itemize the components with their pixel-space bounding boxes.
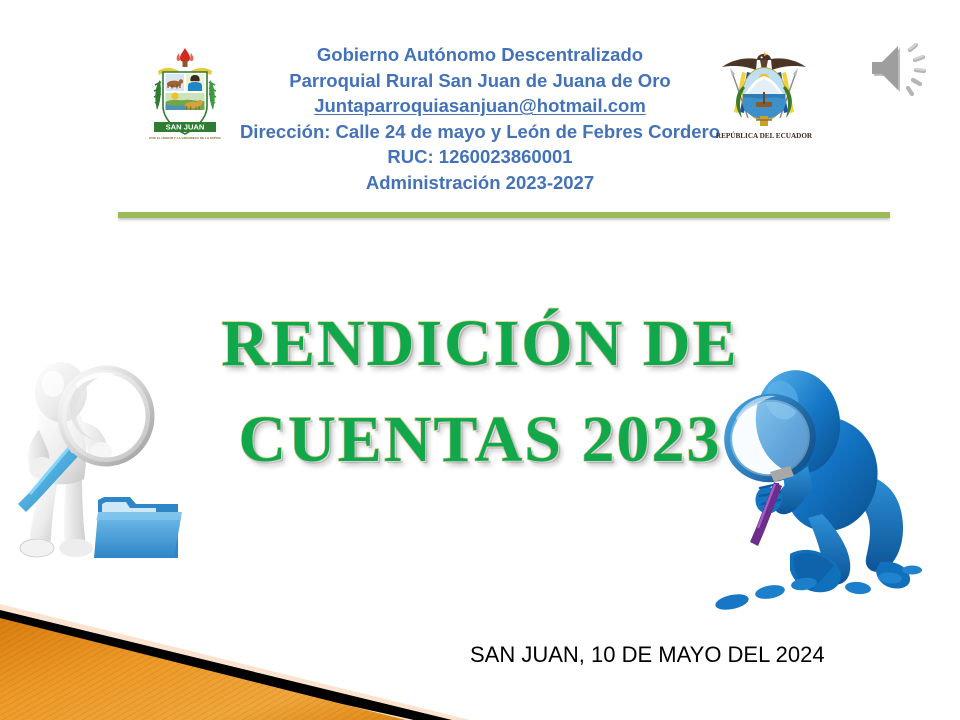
blue-figure-searching-illustration — [712, 356, 930, 618]
ecuador-logo-caption: REPÚBLICA DEL ECUADOR — [716, 130, 813, 140]
header-line-administration: Administración 2023-2027 — [0, 170, 960, 196]
speaker-icon[interactable] — [866, 36, 946, 108]
header-divider-line — [118, 212, 890, 218]
san-juan-logo-sub-motto: POR EL HONOR Y LA GRANDEZA DE LA PATRIA — [149, 136, 221, 140]
slide-caption-date: SAN JUAN, 10 DE MAYO DEL 2024 — [470, 641, 825, 669]
san-juan-logo-motto: SAN JUAN — [166, 123, 205, 132]
san-juan-coat-of-arms-logo: SAN JUAN POR EL HONOR Y LA GRANDEZA DE L… — [146, 44, 224, 144]
white-figure-with-magnifier-illustration — [6, 352, 184, 574]
header-line-ruc: RUC: 1260023860001 — [0, 144, 960, 170]
corner-diagonal-decoration — [0, 588, 520, 720]
ecuador-coat-of-arms-logo: REPÚBLICA DEL ECUADOR — [712, 46, 817, 142]
presentation-slide: Gobierno Autónomo Descentralizado Parroq… — [0, 0, 960, 720]
